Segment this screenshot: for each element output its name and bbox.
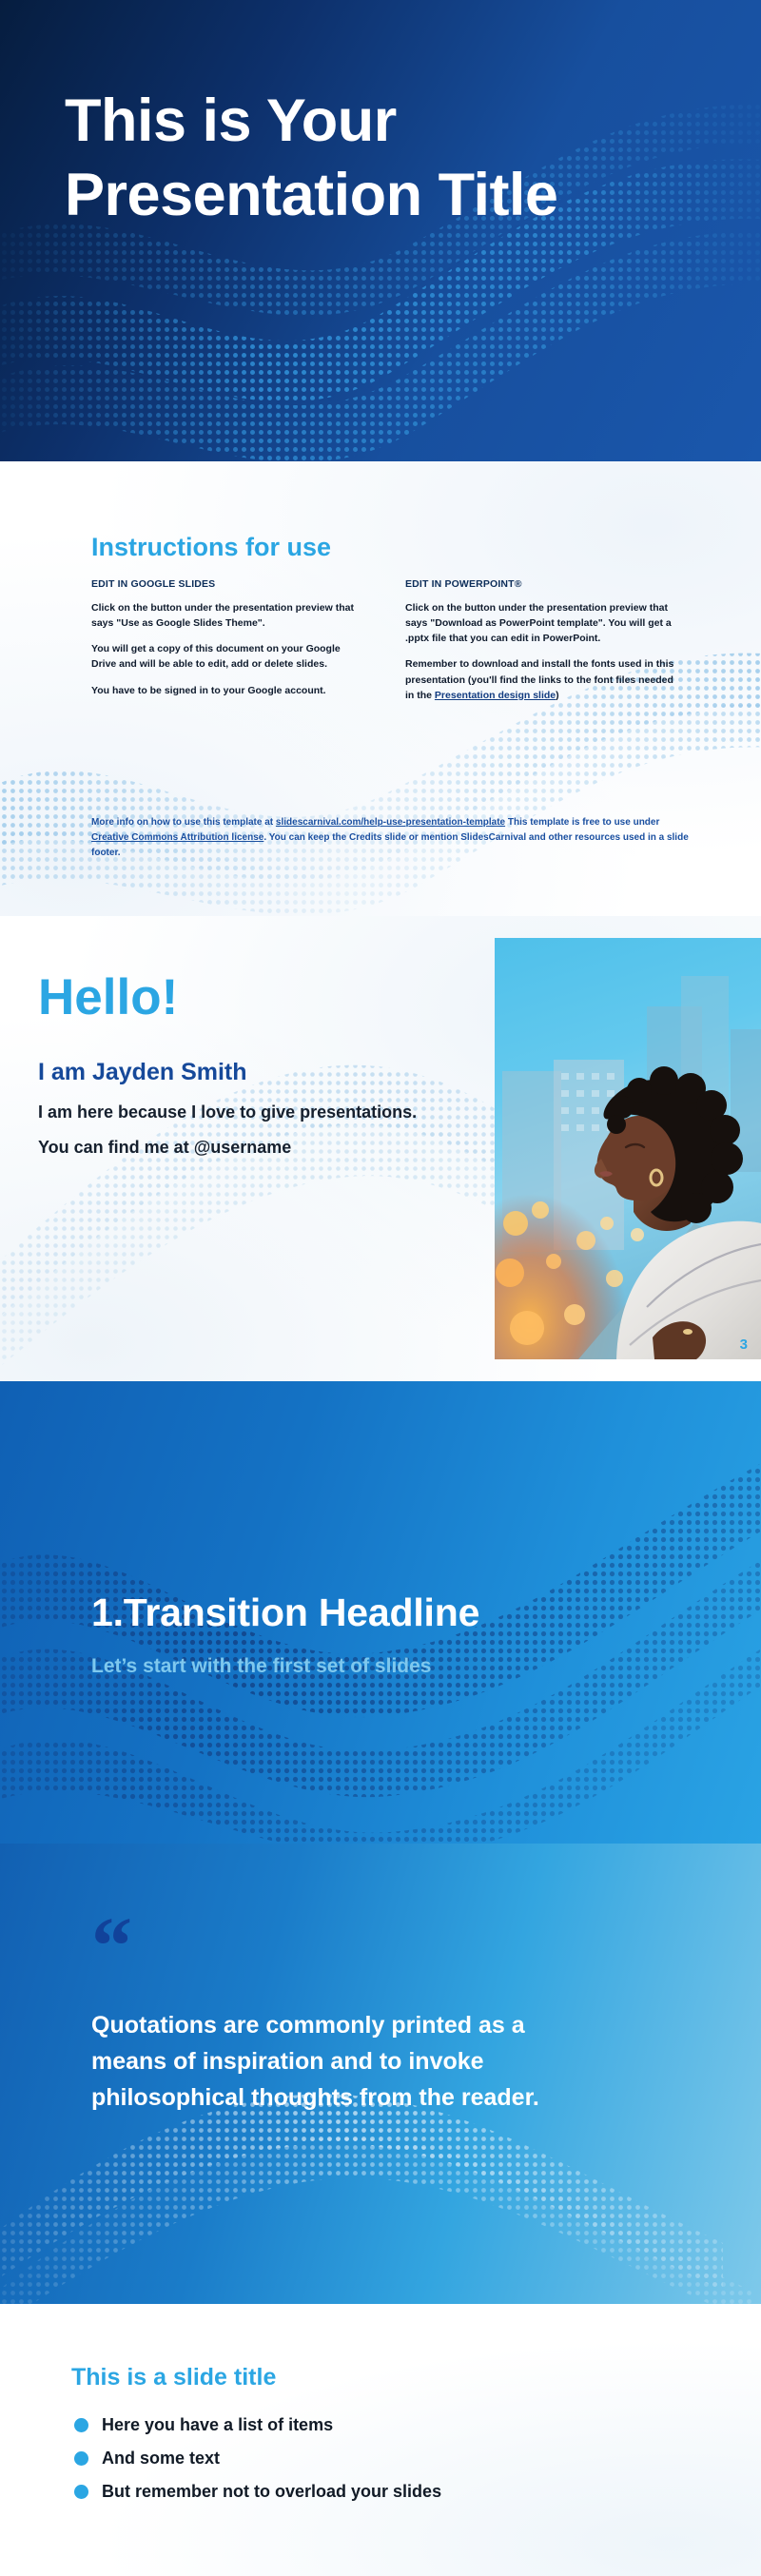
bullet-dot-icon xyxy=(74,2485,88,2499)
speaker-photo: 3 xyxy=(495,938,761,1359)
speaker-name: I am Jayden Smith xyxy=(38,1059,485,1086)
list-item: Here you have a list of items xyxy=(74,2415,721,2435)
hello-heading: Hello! xyxy=(38,971,485,1025)
transition-heading: 1.Transition Headline xyxy=(91,1590,479,1635)
page-title: This is Your Presentation Title xyxy=(65,84,635,232)
hello-slide: Hello! I am Jayden Smith I am here becau… xyxy=(0,916,761,1381)
quote-text: Quotations are commonly printed as a mea… xyxy=(91,2007,586,2116)
cc-license-link[interactable]: Creative Commons Attribution license xyxy=(91,832,263,843)
title-slide: This is Your Presentation Title xyxy=(0,0,761,461)
hello-paragraph-2: You can find me at @username xyxy=(38,1137,485,1160)
transition-slide: 1.Transition Headline Let’s start with t… xyxy=(0,1381,761,1844)
instructions-column-powerpoint: EDIT IN POWERPOINT® Click on the button … xyxy=(405,578,679,713)
instructions-columns: EDIT IN GOOGLE SLIDES Click on the butto… xyxy=(91,578,681,713)
help-template-link[interactable]: slidescarnival.com/help-use-presentation… xyxy=(276,817,505,828)
list-item: But remember not to overload your slides xyxy=(74,2482,721,2502)
hello-text-block: Hello! I am Jayden Smith I am here becau… xyxy=(38,971,485,1160)
powerpoint-p2: Remember to download and install the fon… xyxy=(405,656,679,702)
credits-line1-pre: More info on how to use this template at xyxy=(91,817,276,828)
powerpoint-p1: Click on the button under the presentati… xyxy=(405,600,679,646)
google-slides-p3: You have to be signed in to your Google … xyxy=(91,683,365,698)
page-number: 3 xyxy=(740,1337,748,1353)
bullet-dot-icon xyxy=(74,2418,88,2432)
powerpoint-p2-tail: ) xyxy=(556,690,559,701)
instructions-slide: Instructions for use EDIT IN GOOGLE SLID… xyxy=(0,461,761,916)
list-slide-title: This is a slide title xyxy=(71,2364,276,2391)
instructions-column-google: EDIT IN GOOGLE SLIDES Click on the butto… xyxy=(91,578,365,713)
quote-mark-icon: “ xyxy=(91,1917,132,1976)
list-item-label: Here you have a list of items xyxy=(102,2415,333,2435)
credits-block: More info on how to use this template at… xyxy=(91,815,691,862)
bullet-list: Here you have a list of items And some t… xyxy=(74,2415,721,2515)
presentation-deck: This is Your Presentation Title xyxy=(0,0,761,2576)
google-slides-p1: Click on the button under the presentati… xyxy=(91,600,365,631)
quote-slide: “ Quotations are commonly printed as a m… xyxy=(0,1844,761,2304)
bullet-dot-icon xyxy=(74,2451,88,2466)
presentation-design-slide-link[interactable]: Presentation design slide xyxy=(435,690,556,701)
list-item-label: But remember not to overload your slides xyxy=(102,2482,441,2502)
list-item: And some text xyxy=(74,2449,721,2469)
transition-subheading: Let’s start with the first set of slides xyxy=(91,1655,431,1678)
list-item-label: And some text xyxy=(102,2449,220,2469)
google-slides-p2: You will get a copy of this document on … xyxy=(91,641,365,672)
instructions-heading: Instructions for use xyxy=(91,533,331,562)
credits-line2-pre: This template is free to use under xyxy=(508,817,659,828)
list-slide: This is a slide title Here you have a li… xyxy=(0,2304,761,2576)
powerpoint-subhead: EDIT IN POWERPOINT® xyxy=(405,578,679,590)
google-slides-subhead: EDIT IN GOOGLE SLIDES xyxy=(91,578,365,590)
hello-paragraph-1: I am here because I love to give present… xyxy=(38,1102,485,1124)
